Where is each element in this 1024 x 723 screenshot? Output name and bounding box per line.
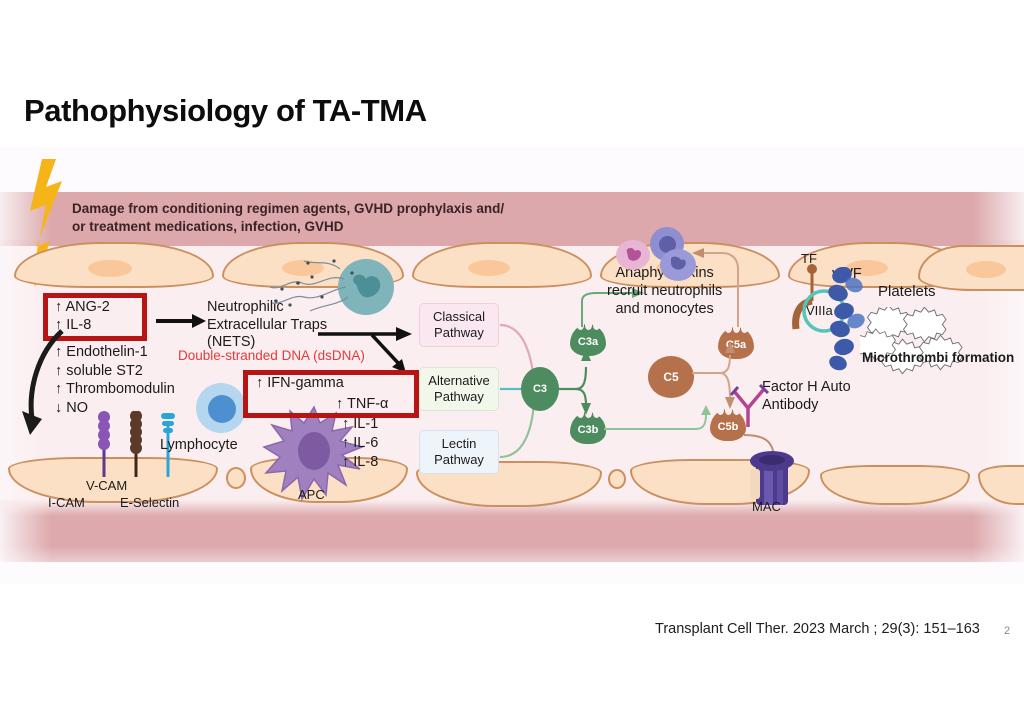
pathway-label-classical: Classical Pathway xyxy=(433,309,485,340)
cytokine-list-text: ↑ IL-1 ↑ IL-6 ↑ IL-8 xyxy=(342,415,378,472)
slide-canvas: Pathophysiology of TA-TMA Damage from co… xyxy=(0,0,1024,723)
slide-number: 2 xyxy=(1004,625,1010,637)
complement-node-c5-label: C5 xyxy=(663,370,678,384)
adhesion-label-icam: I-CAM xyxy=(48,495,85,511)
pathway-box-lectin[interactable]: Lectin Pathway xyxy=(419,430,499,474)
dsdna-label: Double-stranded DNA (dsDNA) xyxy=(178,348,365,364)
cytokine-tnf-text: ↑ TNF-α xyxy=(336,396,388,414)
endothelial-nucleus xyxy=(88,260,132,277)
recruited-monocyte-nucleus-2 xyxy=(668,255,690,280)
complement-node-c3: C3 xyxy=(521,367,559,411)
adhesion-receptor-icam xyxy=(96,411,112,484)
pathway-label-lectin: Lectin Pathway xyxy=(434,436,484,467)
antibody-icon xyxy=(730,383,770,434)
adhesion-label-eselectin: E-Selectin xyxy=(120,495,179,511)
endothelial-nucleus xyxy=(966,261,1006,278)
endothelial-gap-nub xyxy=(226,467,246,489)
endothelial-gap-nub xyxy=(608,469,626,489)
c3-split-arrows xyxy=(556,337,596,436)
factor-h-label: Factor H Auto Antibody xyxy=(762,378,851,414)
citation-text: Transplant Cell Ther. 2023 March ; 29(3)… xyxy=(655,621,980,637)
nets-strands-icon xyxy=(252,253,372,328)
c5a-to-cells-arrow xyxy=(690,243,742,334)
apc-label: APC xyxy=(298,487,325,503)
platelets-label: Platelets xyxy=(878,283,936,301)
pathway-box-alternative[interactable]: Alternative Pathway xyxy=(419,367,499,411)
pathophysiology-figure: Damage from conditioning regimen agents,… xyxy=(0,147,1024,584)
mac-label: MAC xyxy=(752,499,781,515)
endothelial-nucleus xyxy=(468,260,510,276)
endothelial-damage-arrow-icon xyxy=(18,327,78,452)
complement-node-c5: C5 xyxy=(648,356,694,398)
pathway-label-alternative: Alternative Pathway xyxy=(428,373,489,404)
lymphocyte-nucleus xyxy=(208,395,236,423)
damage-banner-text: Damage from conditioning regimen agents,… xyxy=(72,200,712,236)
cytokine-ifn-text: ↑ IFN-gamma xyxy=(256,375,344,393)
page-title: Pathophysiology of TA-TMA xyxy=(24,93,427,129)
adhesion-receptor-vcam xyxy=(128,411,144,484)
lymphocyte-label: Lymphocyte xyxy=(160,437,238,455)
recruited-neutrophil-nucleus-icon xyxy=(623,246,645,271)
complement-node-c3-label: C3 xyxy=(533,383,547,395)
c5a-bite xyxy=(741,324,748,333)
adhesion-label-vcam: V-CAM xyxy=(86,478,127,494)
biomarkers-to-nets-arrow-icon xyxy=(156,311,206,336)
microthrombi-label: Microthrombi formation xyxy=(862,350,1014,366)
band-fade-bottom xyxy=(0,546,1024,584)
pathway-box-classical[interactable]: Classical Pathway xyxy=(419,303,499,347)
